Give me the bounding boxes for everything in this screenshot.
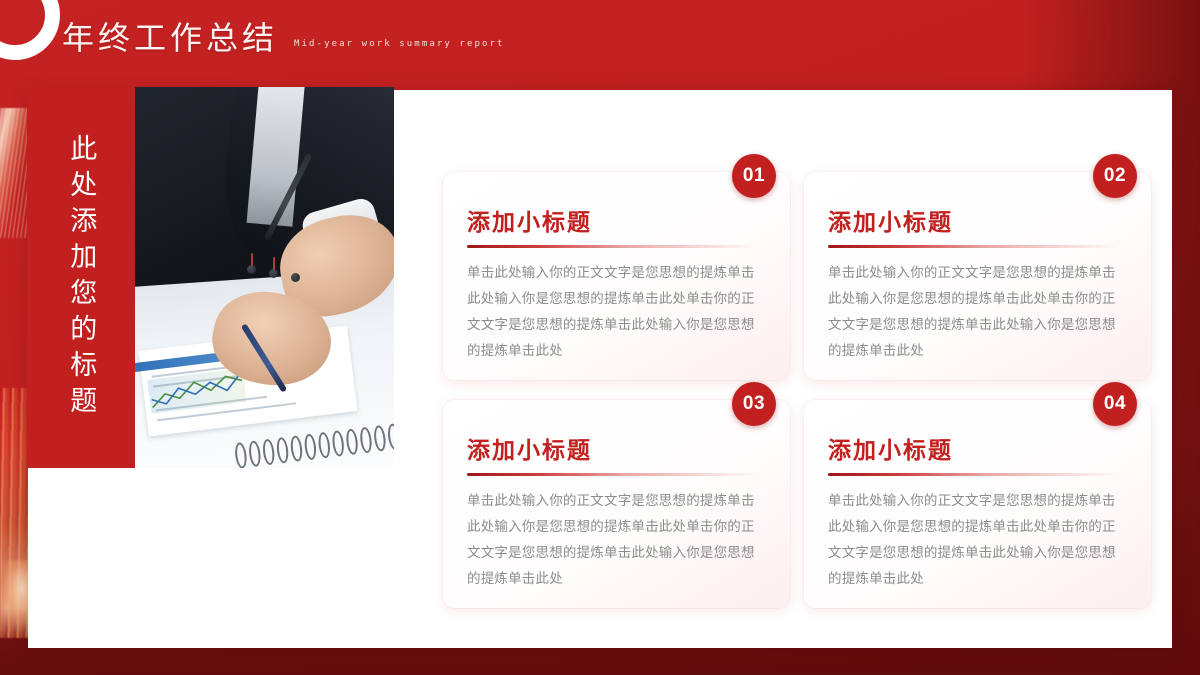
business-meeting-photo — [135, 87, 394, 468]
slide-header: 年终工作总结 Mid-year work summary report — [62, 22, 505, 54]
page-title: 年终工作总结 — [62, 22, 278, 54]
card-body-text: 单击此处输入你的正文文字是您思想的提炼单击此处输入你是您思想的提炼单击此处单击你… — [467, 488, 760, 592]
card-number-badge: 01 — [732, 154, 776, 198]
card-title: 添加小标题 — [828, 210, 1121, 235]
content-card[interactable]: 03 添加小标题 单击此处输入你的正文文字是您思想的提炼单击此处输入你是您思想的… — [443, 400, 790, 608]
vertical-title-bar: 此处添加您的标题 — [27, 87, 135, 468]
card-divider — [828, 473, 1121, 476]
card-body-text: 单击此处输入你的正文文字是您思想的提炼单击此处输入你是您思想的提炼单击此处单击你… — [467, 260, 760, 364]
card-body-text: 单击此处输入你的正文文字是您思想的提炼单击此处输入你是您思想的提炼单击此处单击你… — [828, 488, 1121, 592]
card-number-badge: 04 — [1093, 382, 1137, 426]
content-card[interactable]: 01 添加小标题 单击此处输入你的正文文字是您思想的提炼单击此处输入你是您思想的… — [443, 172, 790, 380]
card-divider — [828, 245, 1121, 248]
card-title: 添加小标题 — [467, 210, 760, 235]
content-card[interactable]: 04 添加小标题 单击此处输入你的正文文字是您思想的提炼单击此处输入你是您思想的… — [804, 400, 1151, 608]
page-subtitle: Mid-year work summary report — [294, 39, 505, 54]
content-card[interactable]: 02 添加小标题 单击此处输入你的正文文字是您思想的提炼单击此处输入你是您思想的… — [804, 172, 1151, 380]
card-number-badge: 03 — [732, 382, 776, 426]
cards-grid: 01 添加小标题 单击此处输入你的正文文字是您思想的提炼单击此处输入你是您思想的… — [443, 172, 1151, 576]
slide: 年终工作总结 Mid-year work summary report 此处添加… — [0, 0, 1200, 675]
card-divider — [467, 473, 760, 476]
card-title: 添加小标题 — [828, 438, 1121, 463]
card-title: 添加小标题 — [467, 438, 760, 463]
media-block: 此处添加您的标题 — [27, 87, 394, 468]
card-number-badge: 02 — [1093, 154, 1137, 198]
vertical-title-text: 此处添加您的标题 — [67, 134, 96, 422]
card-body-text: 单击此处输入你的正文文字是您思想的提炼单击此处输入你是您思想的提炼单击此处单击你… — [828, 260, 1121, 364]
card-divider — [467, 245, 760, 248]
